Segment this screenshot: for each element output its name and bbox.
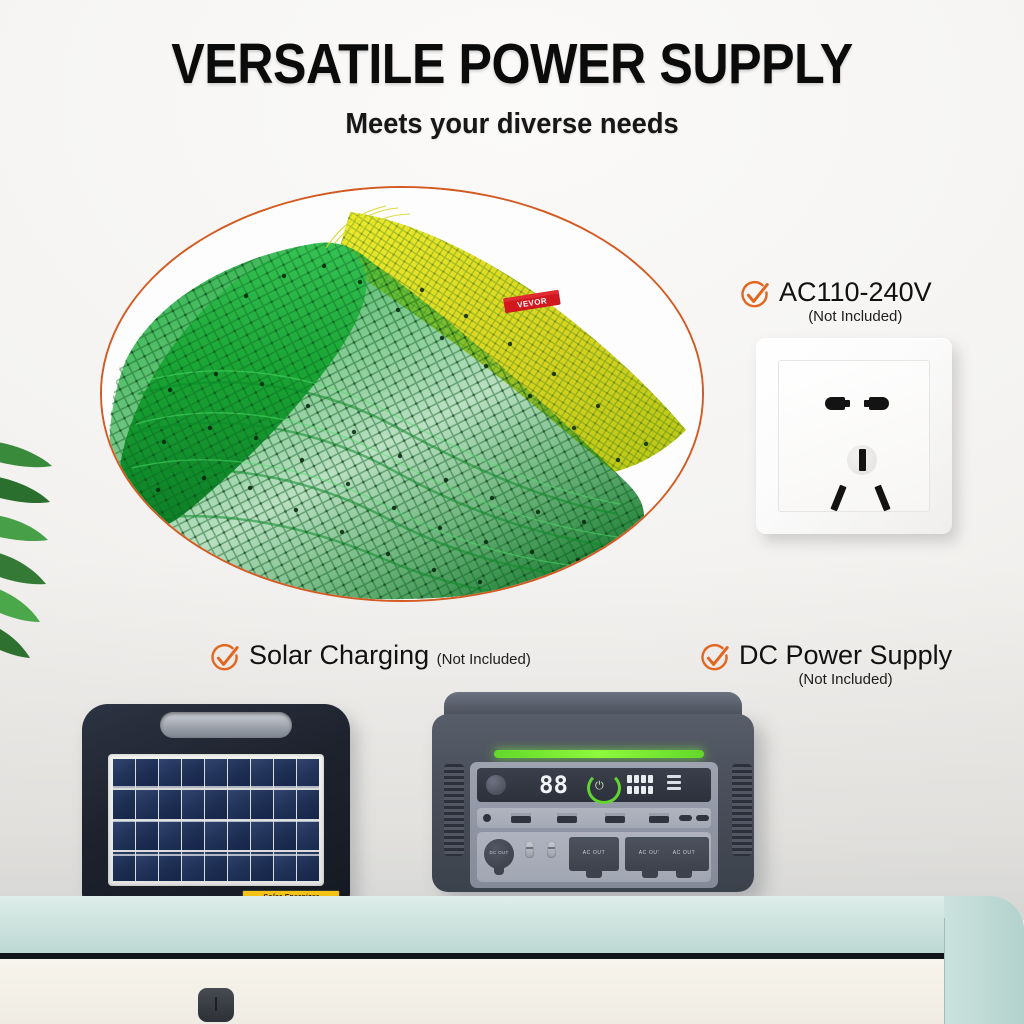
battery-ring-icon xyxy=(587,772,621,804)
check-circle-icon xyxy=(700,643,730,673)
station-vent-left xyxy=(444,764,464,856)
socket-blade-right xyxy=(874,485,890,512)
feature-ac-power: AC110-240V (Not Included) xyxy=(740,278,932,325)
ac-out-label: AC OUT xyxy=(569,850,619,856)
solar-energizer-unit: Solar Energizer LFR050 xyxy=(72,686,362,908)
cabinet-side-panel xyxy=(944,896,1024,1024)
cabinet-drawer-front xyxy=(0,959,1024,1024)
solar-unit-body: Solar Energizer LFR050 xyxy=(82,704,350,908)
feature-solar-charging: Solar Charging (Not Included) xyxy=(210,641,531,673)
cabinet-side-seam xyxy=(944,918,945,1024)
usb-a-port[interactable] xyxy=(605,813,625,823)
solar-busbar xyxy=(113,820,319,822)
battery-inner-icon: ⏻ xyxy=(595,779,604,793)
check-circle-icon xyxy=(210,643,240,673)
usb-a-port[interactable] xyxy=(649,813,669,823)
dc-out-label: DC OUT xyxy=(485,850,513,855)
feature-dc-power: DC Power Supply (Not Included) xyxy=(700,641,952,688)
portable-power-station: 88 ⏻ xyxy=(428,692,760,908)
display-block-indicators xyxy=(627,775,653,794)
display-text-indicators xyxy=(667,775,681,790)
product-marketing-image: VERSATILE POWER SUPPLY Meets your divers… xyxy=(0,0,1024,1024)
vevor-brand-tag: VEVOR xyxy=(502,288,562,316)
output-switch[interactable] xyxy=(525,841,534,858)
usb-a-port[interactable] xyxy=(511,813,531,823)
cabinet xyxy=(0,896,1024,1024)
feature-ac-note: (Not Included) xyxy=(779,308,932,325)
usb-power-button[interactable] xyxy=(483,814,491,822)
station-body: 88 ⏻ xyxy=(432,714,754,892)
station-display: 88 ⏻ xyxy=(477,768,711,802)
ac-wall-socket xyxy=(756,338,952,534)
netting-illustration: VEVOR xyxy=(102,188,702,600)
ac-out-label: AC OUT xyxy=(659,850,709,856)
cabinet-drawer-handle[interactable] xyxy=(198,988,234,1022)
station-vent-right xyxy=(732,764,752,856)
plant-leaves xyxy=(0,430,114,690)
feature-solar-note: (Not Included) xyxy=(437,651,531,668)
station-output-panel: DC OUT AC OUT AC OUT AC OUT xyxy=(477,832,711,882)
cabinet-top-surface xyxy=(0,896,1024,958)
solar-busbar xyxy=(113,786,319,788)
display-digit-value: 88 xyxy=(539,773,556,797)
socket-ground-slot xyxy=(859,449,866,471)
socket-inner-panel xyxy=(778,360,930,512)
display-digits: 88 xyxy=(539,773,556,797)
station-status-light xyxy=(494,750,704,758)
usb-c-port[interactable] xyxy=(679,815,692,821)
feature-dc-note: (Not Included) xyxy=(739,671,952,688)
ac-out-port[interactable]: AC OUT xyxy=(659,837,709,871)
hero-oval-frame: VEVOR xyxy=(100,186,704,602)
socket-blade-left xyxy=(830,485,846,512)
solar-unit-handle xyxy=(160,712,292,738)
solar-busbar xyxy=(113,854,319,856)
page-subtitle: Meets your diverse needs xyxy=(31,108,994,141)
station-front-panel: 88 ⏻ xyxy=(470,762,718,888)
feature-dc-title: DC Power Supply xyxy=(739,641,952,669)
feature-ac-title: AC110-240V xyxy=(779,278,932,306)
socket-flat-pin-left xyxy=(825,397,845,410)
output-switch[interactable] xyxy=(547,841,556,858)
check-circle-icon xyxy=(740,280,770,310)
feature-solar-title: Solar Charging xyxy=(249,640,429,670)
usb-c-port[interactable] xyxy=(696,815,709,821)
page-title: VERSATILE POWER SUPPLY xyxy=(61,36,962,93)
ac-out-port[interactable]: AC OUT xyxy=(569,837,619,871)
socket-flat-pin-right xyxy=(869,397,889,410)
usb-a-port[interactable] xyxy=(557,813,577,823)
station-power-button[interactable] xyxy=(486,775,506,795)
station-usb-port-row xyxy=(477,808,711,828)
